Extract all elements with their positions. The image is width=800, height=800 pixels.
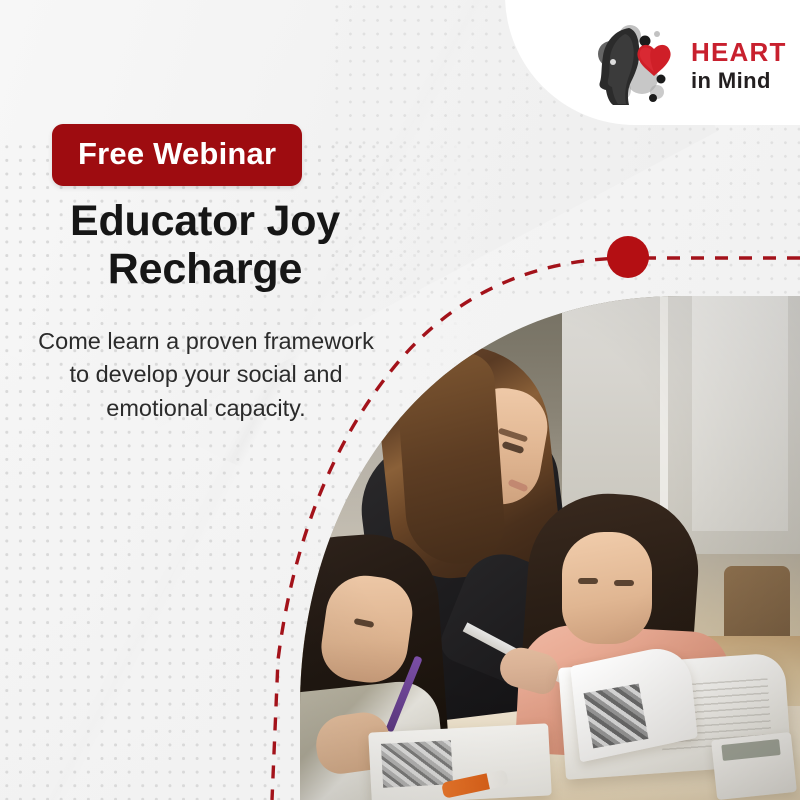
classroom-photo — [262, 236, 800, 800]
page-title-line-2: Recharge — [30, 245, 380, 293]
logo-word-in-mind: in Mind — [691, 70, 787, 92]
page-title: Educator Joy Recharge — [30, 197, 380, 293]
red-accent-dot — [607, 236, 649, 278]
logo-word-heart: HEART — [691, 39, 787, 65]
description-text: Come learn a proven framework to develop… — [36, 325, 376, 425]
logo-wordmark: HEART in Mind — [691, 39, 787, 92]
page-title-line-1: Educator Joy — [30, 197, 380, 245]
poster-canvas: HEART in Mind Free Webinar Educator Joy … — [0, 0, 800, 800]
photo-vignette — [262, 236, 800, 800]
head-profile-heart-logo-icon — [595, 24, 681, 106]
free-webinar-badge-label: Free Webinar — [78, 136, 276, 171]
photo-container — [262, 236, 800, 800]
free-webinar-badge[interactable]: Free Webinar — [52, 124, 302, 186]
brand-logo[interactable]: HEART in Mind — [595, 22, 795, 108]
